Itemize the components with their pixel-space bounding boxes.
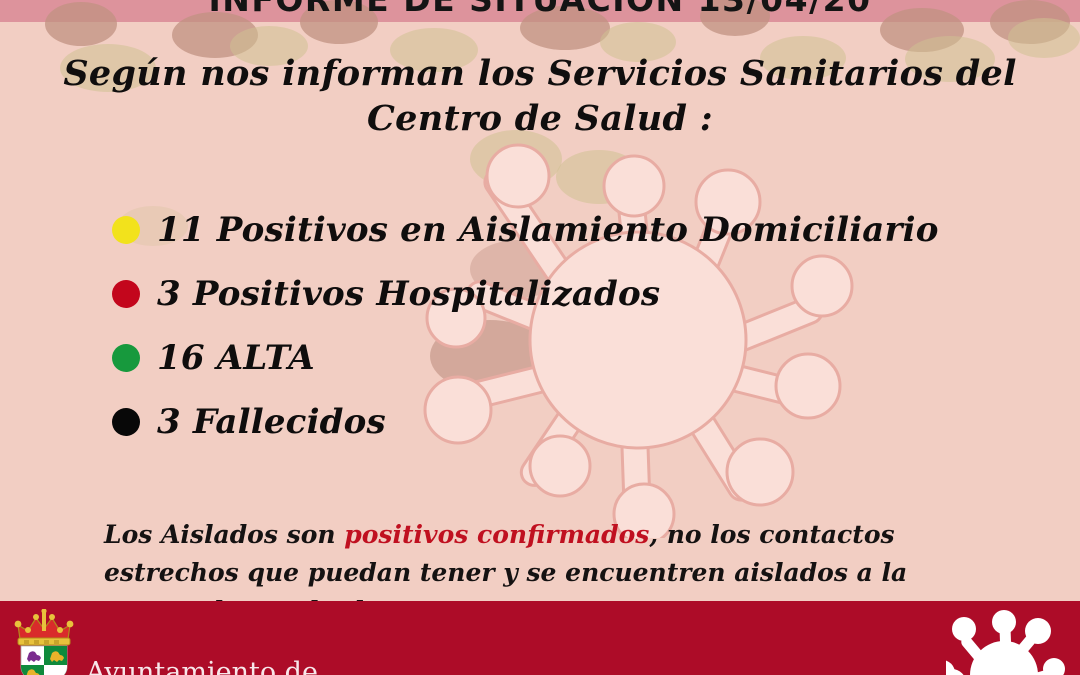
intro-text: Según nos informan los Servicios Sanitar… xyxy=(60,52,1020,142)
poster-headline: INFORME DE SITUACIÓN 13/04/20 xyxy=(208,0,871,19)
note-highlight: positivos confirmados xyxy=(344,520,649,549)
intro-line-2: Centro de Salud : xyxy=(60,97,1020,142)
coronavirus-icon xyxy=(946,609,1066,675)
statistics-list: 11 Positivos en Aislamiento Domiciliario… xyxy=(112,198,932,454)
footer-bar: Ayuntamiento de xyxy=(0,601,1080,675)
poster-content: Según nos informan los Servicios Sanitar… xyxy=(0,0,1080,601)
status-dot-black-icon xyxy=(112,408,140,436)
coat-of-arms-icon xyxy=(12,609,76,675)
status-dot-red-icon xyxy=(112,280,140,308)
list-item: 3 Fallecidos xyxy=(112,390,932,454)
status-dot-yellow-icon xyxy=(112,216,140,244)
stat-label: 16 ALTA xyxy=(157,341,315,375)
intro-line-1: Según nos informan los Servicios Sanitar… xyxy=(63,53,1016,94)
status-dot-green-icon xyxy=(112,344,140,372)
covid-status-poster: INFORME DE SITUACIÓN 13/04/20 Según nos … xyxy=(0,0,1080,675)
list-item: 3 Positivos Hospitalizados xyxy=(112,262,932,326)
note-part-1: Los Aislados son xyxy=(104,520,344,549)
list-item: 16 ALTA xyxy=(112,326,932,390)
list-item: 11 Positivos en Aislamiento Domiciliario xyxy=(112,198,932,262)
stat-label: 3 Positivos Hospitalizados xyxy=(157,277,660,311)
stat-label: 3 Fallecidos xyxy=(157,405,386,439)
stat-label: 11 Positivos en Aislamiento Domiciliario xyxy=(157,213,939,247)
headline-band: INFORME DE SITUACIÓN 13/04/20 xyxy=(0,0,1080,22)
municipality-name: Ayuntamiento de xyxy=(86,659,318,675)
